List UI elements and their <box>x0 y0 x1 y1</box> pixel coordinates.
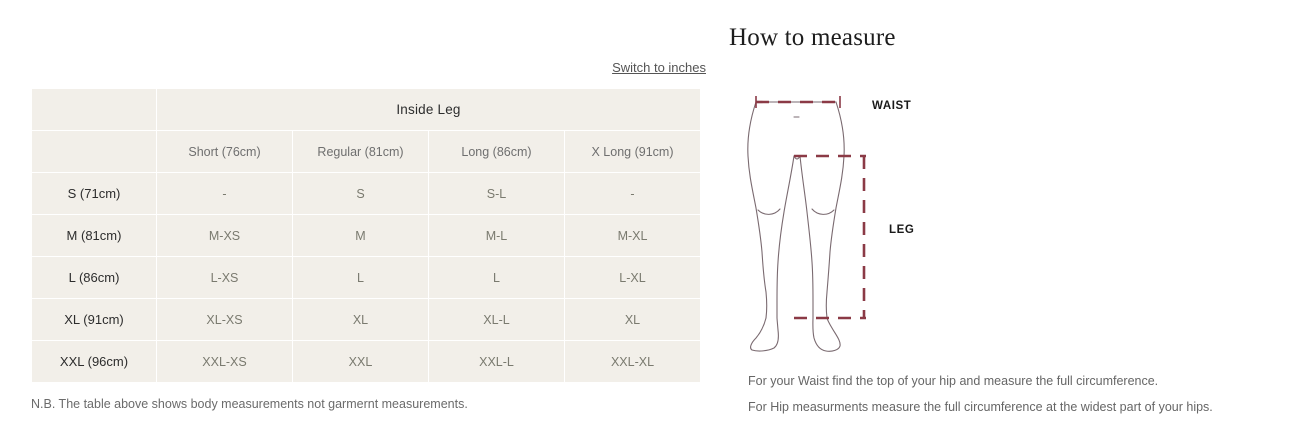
measurement-diagram: WAIST LEG <box>736 80 956 352</box>
column-header-long: Long (86cm) <box>429 131 565 173</box>
size-chart-panel: Switch to inches Inside Leg Short (76cm)… <box>0 0 726 443</box>
cell-l-short: L-XS <box>157 257 293 299</box>
cell-s-xlong: - <box>565 173 701 215</box>
cell-l-regular: L <box>293 257 429 299</box>
cell-m-short: M-XS <box>157 215 293 257</box>
table-corner-cell <box>32 89 157 131</box>
table-row: M (81cm) M-XS M M-L M-XL <box>32 215 701 257</box>
cell-m-regular: M <box>293 215 429 257</box>
table-column-header-row: Short (76cm) Regular (81cm) Long (86cm) … <box>32 131 701 173</box>
cell-s-short: - <box>157 173 293 215</box>
cell-s-long: S-L <box>429 173 565 215</box>
cell-xxl-short: XXL-XS <box>157 341 293 383</box>
measure-note-waist: For your Waist find the top of your hip … <box>748 373 1304 390</box>
lower-body-figure-icon <box>736 80 956 352</box>
column-header-x-long: X Long (91cm) <box>565 131 701 173</box>
waist-label: WAIST <box>872 100 911 112</box>
cell-l-long: L <box>429 257 565 299</box>
table-row: XXL (96cm) XXL-XS XXL XXL-L XXL-XL <box>32 341 701 383</box>
cell-xxl-long: XXL-L <box>429 341 565 383</box>
table-head: Inside Leg Short (76cm) Regular (81cm) L… <box>32 89 701 173</box>
cell-xxl-regular: XXL <box>293 341 429 383</box>
row-label-s: S (71cm) <box>32 173 157 215</box>
row-label-m: M (81cm) <box>32 215 157 257</box>
column-header-regular: Regular (81cm) <box>293 131 429 173</box>
cell-xxl-xlong: XXL-XL <box>565 341 701 383</box>
column-group-header-inside-leg: Inside Leg <box>157 89 701 131</box>
row-label-l: L (86cm) <box>32 257 157 299</box>
cell-xl-short: XL-XS <box>157 299 293 341</box>
table-footnote: N.B. The table above shows body measurem… <box>31 395 468 413</box>
cell-xl-long: XL-L <box>429 299 565 341</box>
measure-instructions: For your Waist find the top of your hip … <box>748 373 1304 425</box>
measure-note-hip: For Hip measurments measure the full cir… <box>748 399 1304 416</box>
table-row: L (86cm) L-XS L L L-XL <box>32 257 701 299</box>
table-row: S (71cm) - S S-L - <box>32 173 701 215</box>
leg-label: LEG <box>889 224 914 236</box>
how-to-measure-panel: How to measure <box>726 0 1308 443</box>
switch-units-link[interactable]: Switch to inches <box>31 59 706 77</box>
page-title: How to measure <box>729 24 896 52</box>
row-label-xxl: XXL (96cm) <box>32 341 157 383</box>
size-chart-table: Inside Leg Short (76cm) Regular (81cm) L… <box>31 88 701 383</box>
cell-xl-regular: XL <box>293 299 429 341</box>
table-body: S (71cm) - S S-L - M (81cm) M-XS M M-L M… <box>32 173 701 383</box>
table-corner-cell-2 <box>32 131 157 173</box>
table-row: XL (91cm) XL-XS XL XL-L XL <box>32 299 701 341</box>
cell-s-regular: S <box>293 173 429 215</box>
cell-xl-xlong: XL <box>565 299 701 341</box>
column-header-short: Short (76cm) <box>157 131 293 173</box>
cell-m-xlong: M-XL <box>565 215 701 257</box>
row-label-xl: XL (91cm) <box>32 299 157 341</box>
table-group-header-row: Inside Leg <box>32 89 701 131</box>
cell-l-xlong: L-XL <box>565 257 701 299</box>
cell-m-long: M-L <box>429 215 565 257</box>
